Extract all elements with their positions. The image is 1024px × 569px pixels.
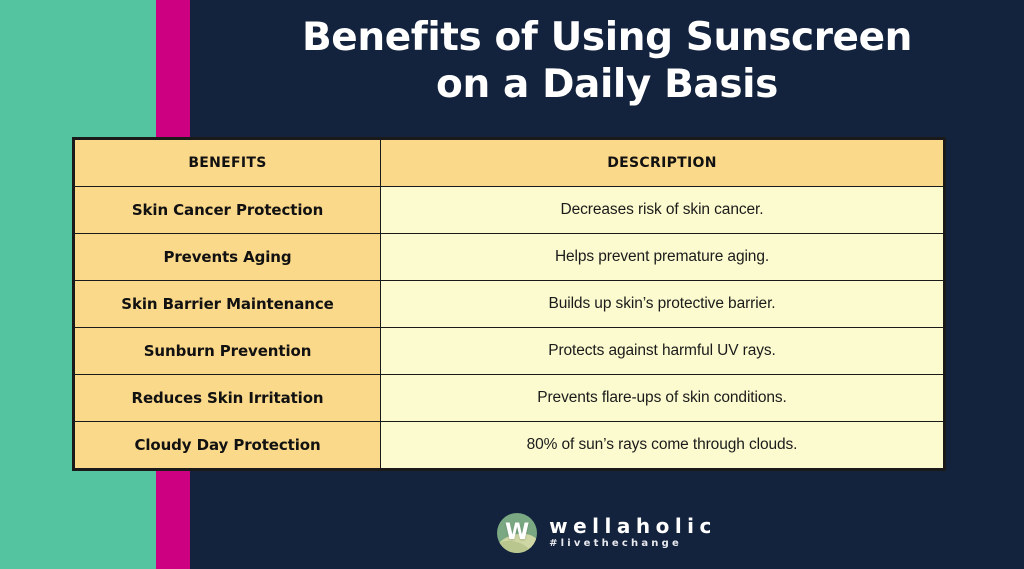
cell-description: Helps prevent premature aging. bbox=[381, 234, 944, 281]
table-head: BENEFITS DESCRIPTION bbox=[75, 140, 944, 187]
cell-benefit: Prevents Aging bbox=[75, 234, 381, 281]
logo-letter-w: W bbox=[497, 513, 537, 553]
page-title-line-1: Benefits of Using Sunscreen bbox=[302, 15, 912, 60]
column-header-description: DESCRIPTION bbox=[381, 140, 944, 187]
footer-branding: W wellaholic #livethechange bbox=[190, 508, 1024, 558]
table-row: Sunburn Prevention Protects against harm… bbox=[75, 328, 944, 375]
cell-benefit: Skin Barrier Maintenance bbox=[75, 281, 381, 328]
cell-description: Prevents flare-ups of skin conditions. bbox=[381, 375, 944, 422]
table-row: Skin Cancer Protection Decreases risk of… bbox=[75, 187, 944, 234]
page-title-line-2: on a Daily Basis bbox=[190, 61, 1024, 108]
table-header-row: BENEFITS DESCRIPTION bbox=[75, 140, 944, 187]
cell-description: Protects against harmful UV rays. bbox=[381, 328, 944, 375]
cell-description: Decreases risk of skin cancer. bbox=[381, 187, 944, 234]
brand-tagline: #livethechange bbox=[549, 537, 682, 551]
benefits-table: BENEFITS DESCRIPTION Skin Cancer Protect… bbox=[74, 139, 944, 469]
benefits-table-container: BENEFITS DESCRIPTION Skin Cancer Protect… bbox=[72, 137, 946, 471]
cell-benefit: Sunburn Prevention bbox=[75, 328, 381, 375]
cell-benefit: Cloudy Day Protection bbox=[75, 422, 381, 469]
table-row: Cloudy Day Protection 80% of sun’s rays … bbox=[75, 422, 944, 469]
table-row: Skin Barrier Maintenance Builds up skin’… bbox=[75, 281, 944, 328]
column-header-benefits: BENEFITS bbox=[75, 140, 381, 187]
brand-logo: W wellaholic #livethechange bbox=[497, 513, 717, 553]
table-row: Reduces Skin Irritation Prevents flare-u… bbox=[75, 375, 944, 422]
brand-name: wellaholic bbox=[549, 515, 717, 537]
cell-benefit: Reduces Skin Irritation bbox=[75, 375, 381, 422]
infographic-canvas: Benefits of Using Sunscreen on a Daily B… bbox=[0, 0, 1024, 569]
table-body: Skin Cancer Protection Decreases risk of… bbox=[75, 187, 944, 469]
page-title: Benefits of Using Sunscreen on a Daily B… bbox=[190, 14, 1024, 108]
table-row: Prevents Aging Helps prevent premature a… bbox=[75, 234, 944, 281]
cell-description: Builds up skin’s protective barrier. bbox=[381, 281, 944, 328]
cell-benefit: Skin Cancer Protection bbox=[75, 187, 381, 234]
cell-description: 80% of sun’s rays come through clouds. bbox=[381, 422, 944, 469]
brand-text-block: wellaholic #livethechange bbox=[549, 515, 717, 551]
wellaholic-logo-icon: W bbox=[497, 513, 537, 553]
